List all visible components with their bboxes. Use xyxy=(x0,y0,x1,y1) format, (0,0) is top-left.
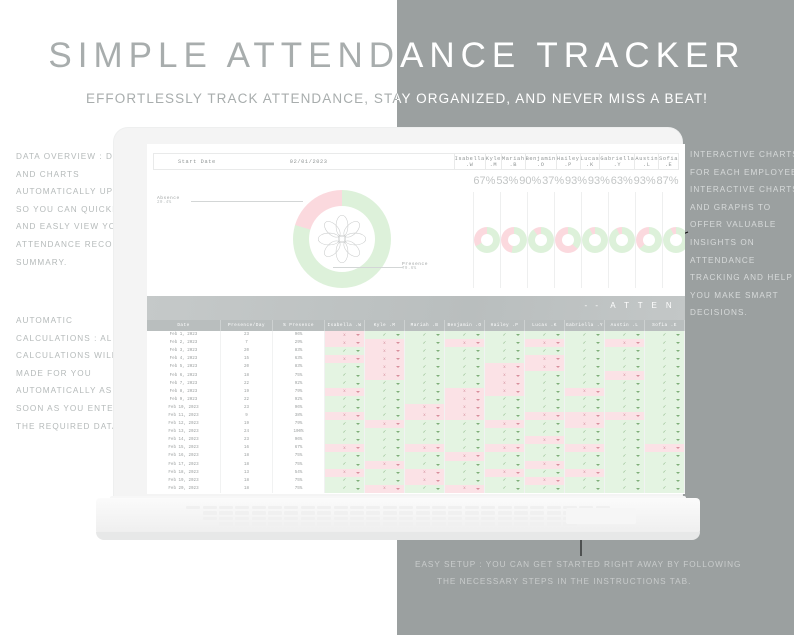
dropdown-arrow-icon[interactable] xyxy=(476,455,480,457)
cell-attendance-4[interactable]: ✓ xyxy=(485,485,525,493)
cell-attendance-1[interactable]: ✓ xyxy=(365,428,405,436)
cell-attendance-3[interactable]: ✓ xyxy=(445,363,485,371)
cell-attendance-5[interactable]: ✓ xyxy=(525,371,565,379)
dropdown-arrow-icon[interactable] xyxy=(596,407,600,409)
dropdown-arrow-icon[interactable] xyxy=(636,464,640,466)
cell-attendance-5[interactable]: x xyxy=(525,363,565,371)
cell-attendance-3[interactable]: ✓ xyxy=(445,461,485,469)
cell-attendance-6[interactable]: ✓ xyxy=(565,355,605,363)
table-row[interactable]: Feb 18, 20231354%x✓x✓x✓x✓✓ xyxy=(147,469,685,477)
cell-attendance-2[interactable]: ✓ xyxy=(405,452,445,460)
cell-presence-day[interactable]: 19 xyxy=(221,388,273,396)
dropdown-arrow-icon[interactable] xyxy=(676,366,680,368)
dropdown-arrow-icon[interactable] xyxy=(556,350,560,352)
cell-attendance-0[interactable]: x xyxy=(325,339,365,347)
column-header-employee-2[interactable]: Mariah .B xyxy=(405,320,445,331)
cell-attendance-0[interactable]: x xyxy=(325,469,365,477)
cell-attendance-1[interactable]: ✓ xyxy=(365,388,405,396)
dropdown-arrow-icon[interactable] xyxy=(356,358,360,360)
cell-pct-presence[interactable]: 92% xyxy=(273,396,325,404)
dropdown-arrow-icon[interactable] xyxy=(356,431,360,433)
dropdown-arrow-icon[interactable] xyxy=(596,464,600,466)
cell-attendance-5[interactable]: x xyxy=(525,355,565,363)
cell-attendance-4[interactable]: ✓ xyxy=(485,412,525,420)
cell-presence-day[interactable]: 24 xyxy=(221,428,273,436)
dropdown-arrow-icon[interactable] xyxy=(396,366,400,368)
cell-attendance-0[interactable]: ✓ xyxy=(325,452,365,460)
cell-pct-presence[interactable]: 75% xyxy=(273,461,325,469)
dropdown-arrow-icon[interactable] xyxy=(516,423,520,425)
cell-attendance-5[interactable]: ✓ xyxy=(525,396,565,404)
cell-attendance-7[interactable]: ✓ xyxy=(605,347,645,355)
dropdown-arrow-icon[interactable] xyxy=(396,391,400,393)
dropdown-arrow-icon[interactable] xyxy=(476,391,480,393)
dropdown-arrow-icon[interactable] xyxy=(436,431,440,433)
cell-attendance-4[interactable]: x xyxy=(485,363,525,371)
cell-presence-day[interactable]: 18 xyxy=(221,371,273,379)
table-row[interactable]: Feb 1, 20232396%x✓✓✓✓✓✓✓✓ xyxy=(147,331,685,339)
cell-attendance-4[interactable]: ✓ xyxy=(485,477,525,485)
dropdown-arrow-icon[interactable] xyxy=(636,472,640,474)
cell-pct-presence[interactable]: 96% xyxy=(273,331,325,339)
cell-attendance-8[interactable]: ✓ xyxy=(645,339,685,347)
cell-date[interactable]: Feb 17, 2023 xyxy=(147,461,221,469)
column-header-employee-8[interactable]: Sofia .E xyxy=(645,320,685,331)
dropdown-arrow-icon[interactable] xyxy=(556,415,560,417)
dropdown-arrow-icon[interactable] xyxy=(636,375,640,377)
cell-attendance-1[interactable]: x xyxy=(365,339,405,347)
cell-pct-presence[interactable]: 54% xyxy=(273,469,325,477)
dropdown-arrow-icon[interactable] xyxy=(356,375,360,377)
cell-date[interactable]: Feb 3, 2023 xyxy=(147,347,221,355)
dropdown-arrow-icon[interactable] xyxy=(476,366,480,368)
cell-presence-day[interactable]: 13 xyxy=(221,469,273,477)
cell-attendance-2[interactable]: ✓ xyxy=(405,485,445,493)
cell-attendance-7[interactable]: x xyxy=(605,412,645,420)
cell-pct-presence[interactable]: 38% xyxy=(273,412,325,420)
dropdown-arrow-icon[interactable] xyxy=(676,415,680,417)
cell-attendance-5[interactable]: ✓ xyxy=(525,404,565,412)
cell-attendance-4[interactable]: x xyxy=(485,371,525,379)
cell-date[interactable]: Feb 7, 2023 xyxy=(147,380,221,388)
cell-presence-day[interactable]: 19 xyxy=(221,420,273,428)
dropdown-arrow-icon[interactable] xyxy=(356,342,360,344)
dropdown-arrow-icon[interactable] xyxy=(396,415,400,417)
dropdown-arrow-icon[interactable] xyxy=(396,480,400,482)
cell-attendance-1[interactable]: ✓ xyxy=(365,469,405,477)
table-row[interactable]: Feb 3, 20232083%✓x✓✓✓✓✓✓✓ xyxy=(147,347,685,355)
cell-attendance-0[interactable]: ✓ xyxy=(325,347,365,355)
dropdown-arrow-icon[interactable] xyxy=(396,358,400,360)
dropdown-arrow-icon[interactable] xyxy=(476,480,480,482)
cell-attendance-3[interactable]: ✓ xyxy=(445,477,485,485)
cell-attendance-5[interactable]: x xyxy=(525,412,565,420)
cell-attendance-4[interactable]: ✓ xyxy=(485,461,525,469)
dropdown-arrow-icon[interactable] xyxy=(636,455,640,457)
dropdown-arrow-icon[interactable] xyxy=(596,415,600,417)
dropdown-arrow-icon[interactable] xyxy=(396,375,400,377)
cell-attendance-5[interactable]: x xyxy=(525,339,565,347)
table-row[interactable]: Feb 14, 20232396%✓✓✓✓✓x✓✓✓ xyxy=(147,436,685,444)
cell-presence-day[interactable]: 20 xyxy=(221,347,273,355)
dropdown-arrow-icon[interactable] xyxy=(356,439,360,441)
dropdown-arrow-icon[interactable] xyxy=(436,383,440,385)
cell-attendance-1[interactable]: x xyxy=(365,485,405,493)
dropdown-arrow-icon[interactable] xyxy=(516,399,520,401)
cell-attendance-4[interactable]: ✓ xyxy=(485,436,525,444)
table-row[interactable]: Feb 13, 202324100%✓✓✓✓✓✓✓✓✓ xyxy=(147,428,685,436)
cell-attendance-4[interactable]: ✓ xyxy=(485,331,525,339)
cell-attendance-2[interactable]: ✓ xyxy=(405,396,445,404)
cell-attendance-6[interactable]: x xyxy=(565,412,605,420)
dropdown-arrow-icon[interactable] xyxy=(436,472,440,474)
cell-attendance-2[interactable]: x xyxy=(405,404,445,412)
cell-attendance-0[interactable]: x xyxy=(325,355,365,363)
cell-presence-day[interactable]: 23 xyxy=(221,404,273,412)
cell-attendance-7[interactable]: x xyxy=(605,371,645,379)
dropdown-arrow-icon[interactable] xyxy=(396,439,400,441)
dropdown-arrow-icon[interactable] xyxy=(516,488,520,490)
table-row[interactable]: Feb 19, 20231875%✓✓x✓✓x✓✓✓ xyxy=(147,477,685,485)
dropdown-arrow-icon[interactable] xyxy=(436,358,440,360)
cell-attendance-2[interactable]: x xyxy=(405,477,445,485)
cell-date[interactable]: Feb 8, 2023 xyxy=(147,388,221,396)
cell-pct-presence[interactable]: 75% xyxy=(273,477,325,485)
cell-date[interactable]: Feb 14, 2023 xyxy=(147,436,221,444)
dropdown-arrow-icon[interactable] xyxy=(676,447,680,449)
column-header-employee-0[interactable]: Isabella .W xyxy=(325,320,365,331)
dropdown-arrow-icon[interactable] xyxy=(556,439,560,441)
column-header-employee-4[interactable]: Hailey .P xyxy=(485,320,525,331)
table-row[interactable]: Feb 15, 20231667%x✓x✓x✓x✓x xyxy=(147,444,685,452)
dropdown-arrow-icon[interactable] xyxy=(516,334,520,336)
cell-presence-day[interactable]: 9 xyxy=(221,412,273,420)
cell-date[interactable]: Feb 1, 2023 xyxy=(147,331,221,339)
cell-pct-presence[interactable]: 75% xyxy=(273,452,325,460)
cell-attendance-1[interactable]: x xyxy=(365,363,405,371)
dropdown-arrow-icon[interactable] xyxy=(596,439,600,441)
dropdown-arrow-icon[interactable] xyxy=(476,472,480,474)
cell-pct-presence[interactable]: 79% xyxy=(273,420,325,428)
cell-attendance-8[interactable]: ✓ xyxy=(645,420,685,428)
dropdown-arrow-icon[interactable] xyxy=(436,350,440,352)
cell-attendance-0[interactable]: ✓ xyxy=(325,363,365,371)
dropdown-arrow-icon[interactable] xyxy=(396,383,400,385)
dropdown-arrow-icon[interactable] xyxy=(596,480,600,482)
cell-attendance-0[interactable]: ✓ xyxy=(325,428,365,436)
cell-attendance-2[interactable]: ✓ xyxy=(405,371,445,379)
dropdown-arrow-icon[interactable] xyxy=(476,423,480,425)
dropdown-arrow-icon[interactable] xyxy=(476,488,480,490)
dropdown-arrow-icon[interactable] xyxy=(396,399,400,401)
cell-attendance-6[interactable]: x xyxy=(565,469,605,477)
dropdown-arrow-icon[interactable] xyxy=(636,342,640,344)
dropdown-arrow-icon[interactable] xyxy=(356,366,360,368)
cell-attendance-7[interactable]: ✓ xyxy=(605,469,645,477)
cell-attendance-7[interactable]: ✓ xyxy=(605,363,645,371)
dropdown-arrow-icon[interactable] xyxy=(356,472,360,474)
dropdown-arrow-icon[interactable] xyxy=(476,431,480,433)
column-header-pct-presence[interactable]: % Presence xyxy=(273,320,325,331)
cell-attendance-5[interactable]: ✓ xyxy=(525,388,565,396)
cell-attendance-1[interactable]: ✓ xyxy=(365,477,405,485)
dropdown-arrow-icon[interactable] xyxy=(636,383,640,385)
cell-attendance-3[interactable]: ✓ xyxy=(445,444,485,452)
cell-attendance-0[interactable]: ✓ xyxy=(325,477,365,485)
table-row[interactable]: Feb 5, 20232083%✓x✓✓xx✓✓✓ xyxy=(147,363,685,371)
cell-attendance-7[interactable]: ✓ xyxy=(605,428,645,436)
dropdown-arrow-icon[interactable] xyxy=(596,423,600,425)
dropdown-arrow-icon[interactable] xyxy=(676,334,680,336)
cell-attendance-4[interactable]: ✓ xyxy=(485,396,525,404)
cell-attendance-7[interactable]: x xyxy=(605,339,645,347)
cell-presence-day[interactable]: 23 xyxy=(221,331,273,339)
dropdown-arrow-icon[interactable] xyxy=(516,464,520,466)
dropdown-arrow-icon[interactable] xyxy=(556,358,560,360)
cell-attendance-7[interactable]: ✓ xyxy=(605,452,645,460)
table-row[interactable]: Feb 16, 20231875%✓✓✓x✓✓✓✓✓ xyxy=(147,452,685,460)
cell-attendance-7[interactable]: ✓ xyxy=(605,420,645,428)
cell-attendance-8[interactable]: ✓ xyxy=(645,388,685,396)
cell-attendance-6[interactable]: ✓ xyxy=(565,380,605,388)
cell-attendance-0[interactable]: ✓ xyxy=(325,396,365,404)
dropdown-arrow-icon[interactable] xyxy=(356,447,360,449)
cell-attendance-6[interactable]: ✓ xyxy=(565,436,605,444)
cell-attendance-1[interactable]: x xyxy=(365,420,405,428)
cell-pct-presence[interactable]: 75% xyxy=(273,485,325,493)
dropdown-arrow-icon[interactable] xyxy=(516,383,520,385)
cell-attendance-2[interactable]: ✓ xyxy=(405,331,445,339)
column-header-date[interactable]: Date xyxy=(147,320,221,331)
dropdown-arrow-icon[interactable] xyxy=(436,455,440,457)
dropdown-arrow-icon[interactable] xyxy=(436,407,440,409)
dropdown-arrow-icon[interactable] xyxy=(556,447,560,449)
dropdown-arrow-icon[interactable] xyxy=(636,407,640,409)
cell-pct-presence[interactable]: 83% xyxy=(273,363,325,371)
cell-attendance-8[interactable]: ✓ xyxy=(645,436,685,444)
column-header-employee-5[interactable]: Lucas .K xyxy=(525,320,565,331)
dropdown-arrow-icon[interactable] xyxy=(516,447,520,449)
dropdown-arrow-icon[interactable] xyxy=(436,366,440,368)
cell-attendance-8[interactable]: ✓ xyxy=(645,485,685,493)
cell-date[interactable]: Feb 11, 2023 xyxy=(147,412,221,420)
cell-attendance-6[interactable]: ✓ xyxy=(565,461,605,469)
cell-attendance-8[interactable]: ✓ xyxy=(645,371,685,379)
cell-attendance-3[interactable]: x xyxy=(445,339,485,347)
cell-date[interactable]: Feb 9, 2023 xyxy=(147,396,221,404)
dropdown-arrow-icon[interactable] xyxy=(556,366,560,368)
cell-attendance-8[interactable]: ✓ xyxy=(645,452,685,460)
cell-attendance-6[interactable]: ✓ xyxy=(565,452,605,460)
dropdown-arrow-icon[interactable] xyxy=(596,431,600,433)
cell-pct-presence[interactable]: 67% xyxy=(273,444,325,452)
dropdown-arrow-icon[interactable] xyxy=(556,342,560,344)
column-header-employee-6[interactable]: Gabriella .Y xyxy=(565,320,605,331)
dropdown-arrow-icon[interactable] xyxy=(516,415,520,417)
cell-pct-presence[interactable]: 63% xyxy=(273,355,325,363)
cell-attendance-3[interactable]: ✓ xyxy=(445,371,485,379)
cell-attendance-8[interactable]: ✓ xyxy=(645,363,685,371)
dropdown-arrow-icon[interactable] xyxy=(636,439,640,441)
cell-attendance-2[interactable]: ✓ xyxy=(405,461,445,469)
table-row[interactable]: Feb 7, 20232292%✓✓✓✓x✓✓✓✓ xyxy=(147,380,685,388)
dropdown-arrow-icon[interactable] xyxy=(476,447,480,449)
dropdown-arrow-icon[interactable] xyxy=(676,407,680,409)
cell-attendance-5[interactable]: x xyxy=(525,477,565,485)
dropdown-arrow-icon[interactable] xyxy=(476,358,480,360)
cell-attendance-1[interactable]: x xyxy=(365,371,405,379)
dropdown-arrow-icon[interactable] xyxy=(636,488,640,490)
dropdown-arrow-icon[interactable] xyxy=(556,488,560,490)
dropdown-arrow-icon[interactable] xyxy=(396,464,400,466)
dropdown-arrow-icon[interactable] xyxy=(556,423,560,425)
cell-attendance-2[interactable]: ✓ xyxy=(405,428,445,436)
dropdown-arrow-icon[interactable] xyxy=(636,366,640,368)
cell-presence-day[interactable]: 18 xyxy=(221,452,273,460)
cell-attendance-5[interactable]: ✓ xyxy=(525,485,565,493)
column-header-employee-1[interactable]: Kyle .M xyxy=(365,320,405,331)
dropdown-arrow-icon[interactable] xyxy=(676,464,680,466)
dropdown-arrow-icon[interactable] xyxy=(516,358,520,360)
cell-attendance-4[interactable]: x xyxy=(485,388,525,396)
dropdown-arrow-icon[interactable] xyxy=(436,399,440,401)
dropdown-arrow-icon[interactable] xyxy=(396,447,400,449)
dropdown-arrow-icon[interactable] xyxy=(396,423,400,425)
dropdown-arrow-icon[interactable] xyxy=(596,358,600,360)
cell-pct-presence[interactable]: 100% xyxy=(273,428,325,436)
dropdown-arrow-icon[interactable] xyxy=(516,366,520,368)
dropdown-arrow-icon[interactable] xyxy=(476,439,480,441)
cell-pct-presence[interactable]: 96% xyxy=(273,436,325,444)
cell-attendance-6[interactable]: ✓ xyxy=(565,396,605,404)
dropdown-arrow-icon[interactable] xyxy=(636,415,640,417)
dropdown-arrow-icon[interactable] xyxy=(396,488,400,490)
cell-attendance-1[interactable]: x xyxy=(365,355,405,363)
cell-attendance-4[interactable]: x xyxy=(485,380,525,388)
cell-attendance-3[interactable]: x xyxy=(445,485,485,493)
cell-attendance-3[interactable]: ✓ xyxy=(445,347,485,355)
cell-date[interactable]: Feb 6, 2023 xyxy=(147,371,221,379)
cell-attendance-5[interactable]: x xyxy=(525,436,565,444)
dropdown-arrow-icon[interactable] xyxy=(476,350,480,352)
cell-attendance-2[interactable]: x xyxy=(405,444,445,452)
dropdown-arrow-icon[interactable] xyxy=(556,455,560,457)
dropdown-arrow-icon[interactable] xyxy=(396,334,400,336)
cell-attendance-4[interactable]: x xyxy=(485,444,525,452)
cell-presence-day[interactable]: 16 xyxy=(221,444,273,452)
cell-attendance-1[interactable]: ✓ xyxy=(365,404,405,412)
cell-attendance-7[interactable]: ✓ xyxy=(605,380,645,388)
dropdown-arrow-icon[interactable] xyxy=(636,334,640,336)
cell-attendance-3[interactable]: x xyxy=(445,404,485,412)
dropdown-arrow-icon[interactable] xyxy=(636,423,640,425)
cell-date[interactable]: Feb 18, 2023 xyxy=(147,469,221,477)
cell-attendance-5[interactable]: x xyxy=(525,461,565,469)
cell-presence-day[interactable]: 18 xyxy=(221,485,273,493)
dropdown-arrow-icon[interactable] xyxy=(676,391,680,393)
cell-attendance-0[interactable]: ✓ xyxy=(325,485,365,493)
dropdown-arrow-icon[interactable] xyxy=(676,488,680,490)
table-row[interactable]: Feb 2, 2023729%xx✓x✓x✓x✓ xyxy=(147,339,685,347)
cell-attendance-7[interactable]: ✓ xyxy=(605,331,645,339)
dropdown-arrow-icon[interactable] xyxy=(356,407,360,409)
dropdown-arrow-icon[interactable] xyxy=(396,455,400,457)
dropdown-arrow-icon[interactable] xyxy=(476,407,480,409)
cell-date[interactable]: Feb 10, 2023 xyxy=(147,404,221,412)
dropdown-arrow-icon[interactable] xyxy=(676,480,680,482)
cell-attendance-1[interactable]: ✓ xyxy=(365,396,405,404)
cell-attendance-7[interactable]: ✓ xyxy=(605,477,645,485)
cell-attendance-1[interactable]: x xyxy=(365,461,405,469)
cell-attendance-3[interactable]: x xyxy=(445,388,485,396)
cell-pct-presence[interactable]: 92% xyxy=(273,380,325,388)
dropdown-arrow-icon[interactable] xyxy=(476,399,480,401)
dropdown-arrow-icon[interactable] xyxy=(516,342,520,344)
dropdown-arrow-icon[interactable] xyxy=(596,399,600,401)
cell-attendance-5[interactable]: ✓ xyxy=(525,469,565,477)
cell-attendance-8[interactable]: ✓ xyxy=(645,380,685,388)
dropdown-arrow-icon[interactable] xyxy=(556,383,560,385)
cell-pct-presence[interactable]: 96% xyxy=(273,404,325,412)
dropdown-arrow-icon[interactable] xyxy=(356,391,360,393)
cell-attendance-0[interactable]: ✓ xyxy=(325,461,365,469)
dropdown-arrow-icon[interactable] xyxy=(676,350,680,352)
dropdown-arrow-icon[interactable] xyxy=(676,399,680,401)
dropdown-arrow-icon[interactable] xyxy=(396,472,400,474)
cell-attendance-8[interactable]: ✓ xyxy=(645,428,685,436)
cell-attendance-1[interactable]: ✓ xyxy=(365,436,405,444)
dropdown-arrow-icon[interactable] xyxy=(596,472,600,474)
table-row[interactable]: Feb 12, 20231979%✓x✓✓x✓x✓✓ xyxy=(147,420,685,428)
cell-date[interactable]: Feb 19, 2023 xyxy=(147,477,221,485)
dropdown-arrow-icon[interactable] xyxy=(556,480,560,482)
cell-attendance-6[interactable]: ✓ xyxy=(565,485,605,493)
cell-date[interactable]: Feb 4, 2023 xyxy=(147,355,221,363)
table-row[interactable]: Feb 17, 20231875%✓x✓✓✓x✓✓✓ xyxy=(147,461,685,469)
dropdown-arrow-icon[interactable] xyxy=(436,334,440,336)
start-date-value[interactable]: 02/01/2023 xyxy=(290,159,328,165)
dropdown-arrow-icon[interactable] xyxy=(596,391,600,393)
cell-attendance-0[interactable]: x xyxy=(325,444,365,452)
cell-attendance-8[interactable]: ✓ xyxy=(645,469,685,477)
dropdown-arrow-icon[interactable] xyxy=(356,399,360,401)
cell-pct-presence[interactable]: 75% xyxy=(273,371,325,379)
dropdown-arrow-icon[interactable] xyxy=(476,415,480,417)
dropdown-arrow-icon[interactable] xyxy=(396,350,400,352)
cell-attendance-2[interactable]: ✓ xyxy=(405,339,445,347)
cell-attendance-2[interactable]: ✓ xyxy=(405,388,445,396)
dropdown-arrow-icon[interactable] xyxy=(436,464,440,466)
cell-attendance-7[interactable]: ✓ xyxy=(605,444,645,452)
cell-attendance-8[interactable]: ✓ xyxy=(645,331,685,339)
cell-presence-day[interactable]: 20 xyxy=(221,363,273,371)
dropdown-arrow-icon[interactable] xyxy=(556,431,560,433)
dropdown-arrow-icon[interactable] xyxy=(636,399,640,401)
cell-attendance-7[interactable]: ✓ xyxy=(605,436,645,444)
table-row[interactable]: Feb 10, 20232396%✓✓xx✓✓✓✓✓ xyxy=(147,404,685,412)
cell-attendance-3[interactable]: x xyxy=(445,396,485,404)
dropdown-arrow-icon[interactable] xyxy=(676,342,680,344)
dropdown-arrow-icon[interactable] xyxy=(516,350,520,352)
dropdown-arrow-icon[interactable] xyxy=(596,342,600,344)
dropdown-arrow-icon[interactable] xyxy=(476,464,480,466)
dropdown-arrow-icon[interactable] xyxy=(596,488,600,490)
cell-attendance-3[interactable]: x xyxy=(445,452,485,460)
cell-attendance-5[interactable]: ✓ xyxy=(525,428,565,436)
cell-attendance-4[interactable]: ✓ xyxy=(485,339,525,347)
dropdown-arrow-icon[interactable] xyxy=(676,455,680,457)
table-row[interactable]: Feb 4, 20231563%xx✓✓✓x✓✓✓ xyxy=(147,355,685,363)
